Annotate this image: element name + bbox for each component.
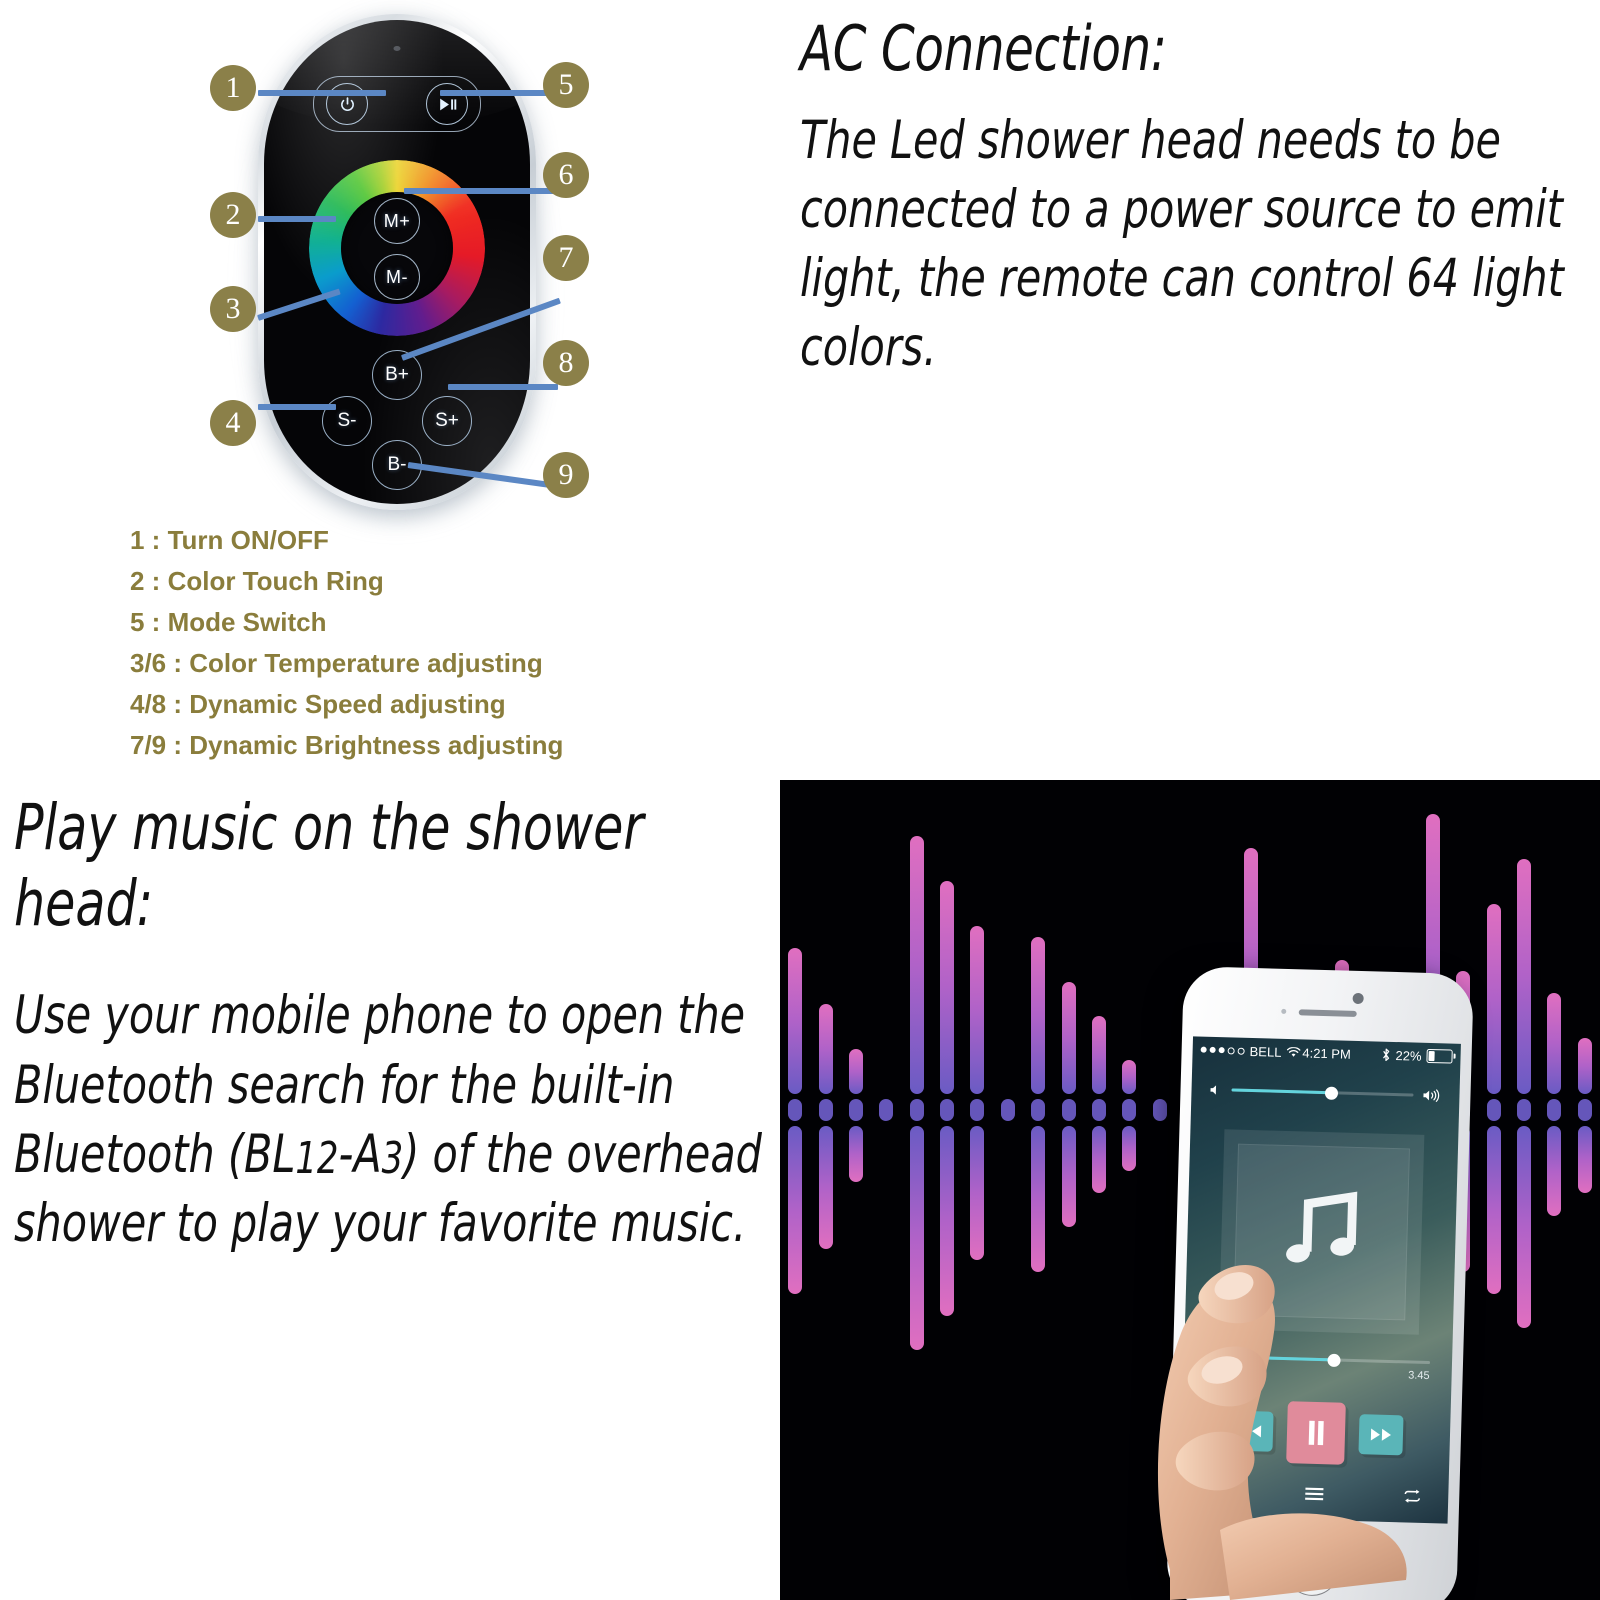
fast-forward-icon [1369, 1426, 1393, 1443]
equalizer-bar-down [819, 1126, 833, 1249]
callout-badge-9: 9 [543, 452, 589, 498]
brightness-plus-button[interactable]: B+ [372, 350, 422, 400]
equalizer-bar-down [1487, 1126, 1501, 1294]
equalizer-center-dash [1517, 1099, 1531, 1121]
playback-progress[interactable]: 1:53 3.45 [1206, 1355, 1430, 1382]
volume-high-icon [1422, 1089, 1441, 1103]
carrier-label: BELL [1249, 1043, 1281, 1059]
pause-icon [1306, 1420, 1327, 1447]
equalizer-bar-down [910, 1126, 924, 1350]
equalizer-center-dash [1487, 1099, 1501, 1121]
callout-badge-8: 8 [543, 340, 589, 386]
equalizer-center-dash [1092, 1099, 1106, 1121]
legend-item-2: 2 : Color Touch Ring [130, 561, 750, 602]
mode-plus-button[interactable]: M+ [374, 198, 420, 244]
equalizer-center-dash [788, 1099, 802, 1121]
color-touch-ring[interactable]: M+ M- [309, 160, 485, 336]
music-body-num1: 12 [295, 1134, 338, 1184]
battery-percent-label: 22% [1395, 1048, 1421, 1064]
transport-controls [1181, 1398, 1451, 1467]
equalizer-bar-down [1547, 1126, 1561, 1216]
progress-knob[interactable] [1327, 1353, 1340, 1366]
callout-badge-7: 7 [543, 235, 589, 281]
play-pause-icon [438, 97, 457, 112]
equalizer-bar-down [1062, 1126, 1076, 1227]
music-photo-panel: BELL 4:21 PM 22% [780, 780, 1600, 1600]
secondary-controls [1206, 1483, 1422, 1504]
equalizer-bar-up [1487, 904, 1501, 1094]
power-icon [339, 96, 356, 113]
callout-line-8 [448, 384, 558, 390]
front-camera-icon [1353, 993, 1364, 1004]
play-music-body: Use your mobile phone to open the Blueto… [14, 981, 786, 1259]
equalizer-bar-up [849, 1049, 863, 1094]
signal-dots-icon [1201, 1046, 1245, 1054]
equalizer-bar-up [1062, 982, 1076, 1094]
equalizer-center-dash [1153, 1099, 1167, 1121]
smartphone: BELL 4:21 PM 22% [1166, 966, 1474, 1600]
callout-badge-1: 1 [210, 65, 256, 111]
wifi-icon [1286, 1046, 1300, 1057]
callout-badge-5: 5 [543, 62, 589, 108]
callout-badge-3: 3 [210, 286, 256, 332]
equalizer-center-dash [910, 1099, 924, 1121]
equalizer-center-dash [819, 1099, 833, 1121]
equalizer-bar-down [1092, 1126, 1106, 1193]
callout-line-4 [258, 404, 336, 410]
remote-body: M+ M- B+ S- S+ B- [258, 14, 536, 510]
volume-control[interactable] [1209, 1083, 1441, 1102]
volume-fill [1232, 1088, 1332, 1094]
legend-item-1: 1 : Turn ON/OFF [130, 520, 750, 561]
elapsed-time: 1:53 [1206, 1364, 1228, 1377]
volume-knob[interactable] [1325, 1086, 1338, 1099]
fast-forward-button[interactable] [1358, 1414, 1403, 1455]
top-button-capsule [313, 76, 481, 132]
callout-line-1 [258, 90, 386, 96]
equalizer-bar-down [940, 1126, 954, 1316]
repeat-icon[interactable] [1402, 1488, 1422, 1504]
equalizer-bar-up [788, 948, 802, 1094]
speed-plus-button[interactable]: S+ [422, 396, 472, 446]
equalizer-bar-up [1122, 1060, 1136, 1094]
callout-line-5 [440, 90, 558, 96]
equalizer-bar-up [1578, 1038, 1592, 1094]
equalizer-center-dash [940, 1099, 954, 1121]
battery-icon [1426, 1049, 1452, 1064]
equalizer-bar-down [1122, 1126, 1136, 1171]
shuffle-icon[interactable] [1206, 1483, 1226, 1499]
clock-label: 4:21 PM [1302, 1045, 1351, 1061]
remote-diagram: M+ M- B+ S- S+ B- 1 2 3 4 5 6 7 8 [0, 0, 780, 780]
equalizer-center-dash [849, 1099, 863, 1121]
equalizer-center-dash [879, 1099, 893, 1121]
equalizer-center-dash [1122, 1099, 1136, 1121]
equalizer-bar-up [910, 836, 924, 1094]
music-body-part2: -A [338, 1124, 381, 1185]
equalizer-center-dash [1578, 1099, 1592, 1121]
equalizer-bar-up [1547, 993, 1561, 1094]
callout-line-2 [258, 216, 336, 222]
equalizer-bar-up [1092, 1016, 1106, 1094]
earpiece-speaker [1299, 1009, 1357, 1017]
legend-list: 1 : Turn ON/OFF 2 : Color Touch Ring 5 :… [130, 520, 750, 766]
equalizer-bar-down [1578, 1126, 1592, 1193]
equalizer-center-dash [1031, 1099, 1045, 1121]
equalizer-center-dash [970, 1099, 984, 1121]
rewind-icon [1239, 1423, 1263, 1440]
status-bar-left: BELL [1200, 1042, 1300, 1060]
equalizer-center-dash [1062, 1099, 1076, 1121]
status-bar: BELL 4:21 PM 22% [1192, 1036, 1461, 1069]
equalizer-bar-down [1517, 1126, 1531, 1328]
legend-item-5: 4/8 : Dynamic Speed adjusting [130, 684, 750, 725]
progress-slider[interactable] [1206, 1355, 1430, 1364]
indicator-led [394, 46, 401, 51]
music-body-num2: 3 [382, 1134, 404, 1184]
volume-slider[interactable] [1232, 1088, 1414, 1096]
phone-screen: BELL 4:21 PM 22% [1180, 1036, 1461, 1523]
volume-low-icon [1209, 1083, 1222, 1095]
equalizer-bar-up [970, 926, 984, 1094]
equalizer-center-dash [1001, 1099, 1015, 1121]
proximity-sensor [1281, 1009, 1286, 1014]
progress-times: 1:53 3.45 [1206, 1364, 1430, 1382]
home-button[interactable] [1284, 1541, 1339, 1596]
ac-connection-section: AC Connection: The Led shower head needs… [800, 0, 1590, 792]
equalizer-bar-up [1031, 937, 1045, 1094]
total-time: 3.45 [1408, 1369, 1430, 1382]
callout-badge-4: 4 [210, 400, 256, 446]
status-bar-right: 22% [1381, 1047, 1452, 1064]
play-music-title: Play music on the shower head: [14, 790, 763, 941]
ac-connection-title: AC Connection: [800, 12, 1416, 85]
equalizer-bar-down [788, 1126, 802, 1294]
rewind-button[interactable] [1228, 1411, 1273, 1452]
play-music-section: Play music on the shower head: Use your … [14, 790, 784, 1600]
equalizer-bar-down [1031, 1126, 1045, 1272]
infographic-page: M+ M- B+ S- S+ B- 1 2 3 4 5 6 7 8 [0, 0, 1600, 1600]
progress-fill [1206, 1355, 1334, 1362]
callout-badge-2: 2 [210, 192, 256, 238]
list-icon[interactable] [1304, 1486, 1324, 1501]
legend-item-6: 7/9 : Dynamic Brightness adjusting [130, 725, 750, 766]
equalizer-bar-up [940, 881, 954, 1094]
equalizer-bar-up [1517, 859, 1531, 1094]
legend-item-4: 3/6 : Color Temperature adjusting [130, 643, 750, 684]
legend-item-3: 5 : Mode Switch [130, 602, 750, 643]
equalizer-bar-down [970, 1126, 984, 1260]
equalizer-bar-down [849, 1126, 863, 1182]
album-artwork [1219, 1129, 1425, 1335]
equalizer-center-dash [1547, 1099, 1561, 1121]
ac-connection-body: The Led shower head needs to be connecte… [800, 107, 1588, 383]
equalizer-bar-up [819, 1004, 833, 1094]
pause-button[interactable] [1286, 1401, 1346, 1465]
callout-badge-6: 6 [543, 152, 589, 198]
music-note-icon [1280, 1187, 1362, 1277]
bluetooth-icon [1381, 1048, 1390, 1062]
callout-line-6 [404, 188, 560, 194]
mode-minus-button[interactable]: M- [374, 254, 420, 300]
